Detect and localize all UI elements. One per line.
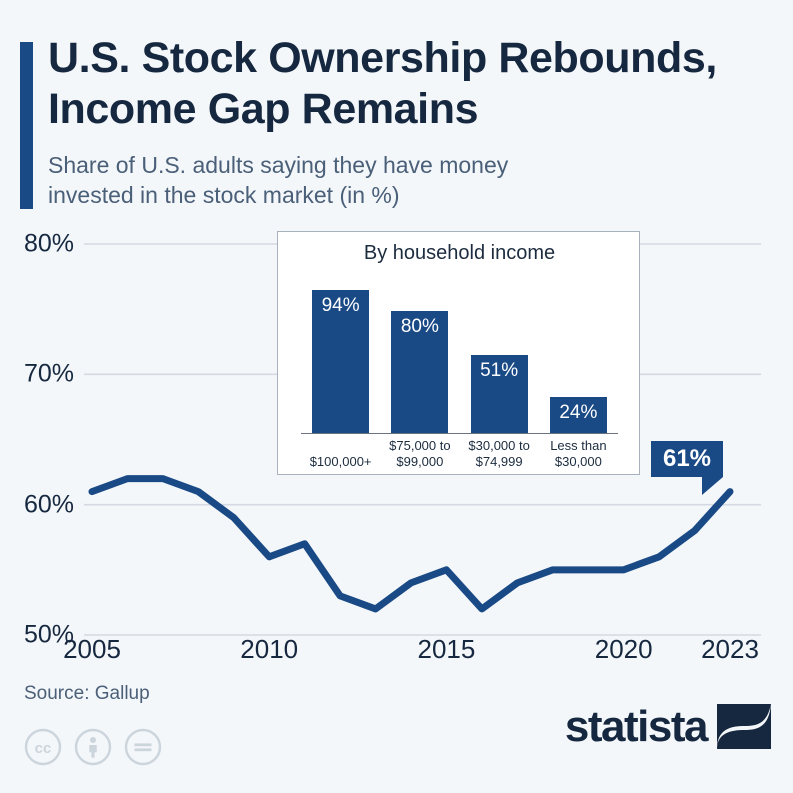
x-axis-tick-label: 2015 <box>418 634 476 665</box>
inset-bar-value-label: 94% <box>312 295 369 317</box>
statista-logo: statista <box>565 704 771 749</box>
statista-wordmark: statista <box>565 705 707 749</box>
inset-bar-value-label: 51% <box>471 360 528 382</box>
inset-category-label: Less than$30,000 <box>539 438 618 470</box>
inset-plot-area: 94%$100,000+80%$75,000 to$99,00051%$30,0… <box>278 232 641 476</box>
inset-category-label: $30,000 to$74,999 <box>460 438 539 470</box>
statista-mark-icon <box>717 704 771 749</box>
inset-bar-value-label: 80% <box>391 316 448 338</box>
x-axis-tick-label: 2010 <box>240 634 298 665</box>
page-subtitle: Share of U.S. adults saying they have mo… <box>48 150 748 210</box>
subtitle-line-2: invested in the stock market (in %) <box>48 180 748 210</box>
inset-category-line: Less than <box>539 438 618 454</box>
inset-bar: 94% <box>312 290 369 433</box>
page-title: U.S. Stock Ownership Rebounds, Income Ga… <box>48 33 768 135</box>
inset-bar: 51% <box>471 355 528 433</box>
inset-category-line: $30,000 <box>539 454 618 470</box>
y-axis-tick-label: 60% <box>0 490 74 519</box>
inset-bar: 24% <box>550 397 607 433</box>
inset-category-label: $75,000 to$99,000 <box>380 438 459 470</box>
x-axis-tick-label: 2020 <box>595 634 653 665</box>
infographic-root: U.S. Stock Ownership Rebounds, Income Ga… <box>0 0 793 793</box>
inset-bar-value-label: 24% <box>550 402 607 424</box>
callout-label: 61% <box>663 445 711 473</box>
cc-noderivatives-equals-icon[interactable] <box>124 728 162 766</box>
callout-tail <box>702 477 723 495</box>
inset-category-line: $99,000 <box>380 454 459 470</box>
svg-text:cc: cc <box>35 740 52 757</box>
header: U.S. Stock Ownership Rebounds, Income Ga… <box>0 0 793 222</box>
inset-category-line: $30,000 to <box>460 438 539 454</box>
subtitle-line-1: Share of U.S. adults saying they have mo… <box>48 150 748 180</box>
line-series <box>92 479 730 609</box>
inset-category-line: $100,000+ <box>301 454 380 470</box>
inset-category-label: $100,000+ <box>301 454 380 470</box>
cc-attribution-person-icon[interactable] <box>74 728 112 766</box>
inset-bar-chart: By household income 94%$100,000+80%$75,0… <box>277 231 640 475</box>
callout-badge: 61% <box>651 441 723 477</box>
y-axis-tick-label: 80% <box>0 230 74 259</box>
accent-bar <box>20 42 33 209</box>
title-line-1: U.S. Stock Ownership Rebounds, <box>48 33 768 84</box>
inset-category-line: $74,999 <box>460 454 539 470</box>
source-note: Source: Gallup <box>24 683 150 705</box>
x-axis-tick-label: 2005 <box>63 634 121 665</box>
y-axis-tick-label: 70% <box>0 360 74 389</box>
footer: Source: Gallup cc statista <box>0 672 793 793</box>
cc-icon[interactable]: cc <box>24 728 62 766</box>
inset-baseline <box>301 433 618 434</box>
inset-bar: 80% <box>391 311 448 433</box>
creative-commons-icons: cc <box>24 728 162 766</box>
title-line-2: Income Gap Remains <box>48 84 768 135</box>
inset-category-line: $75,000 to <box>380 438 459 454</box>
x-axis-tick-label: 2023 <box>701 634 759 665</box>
